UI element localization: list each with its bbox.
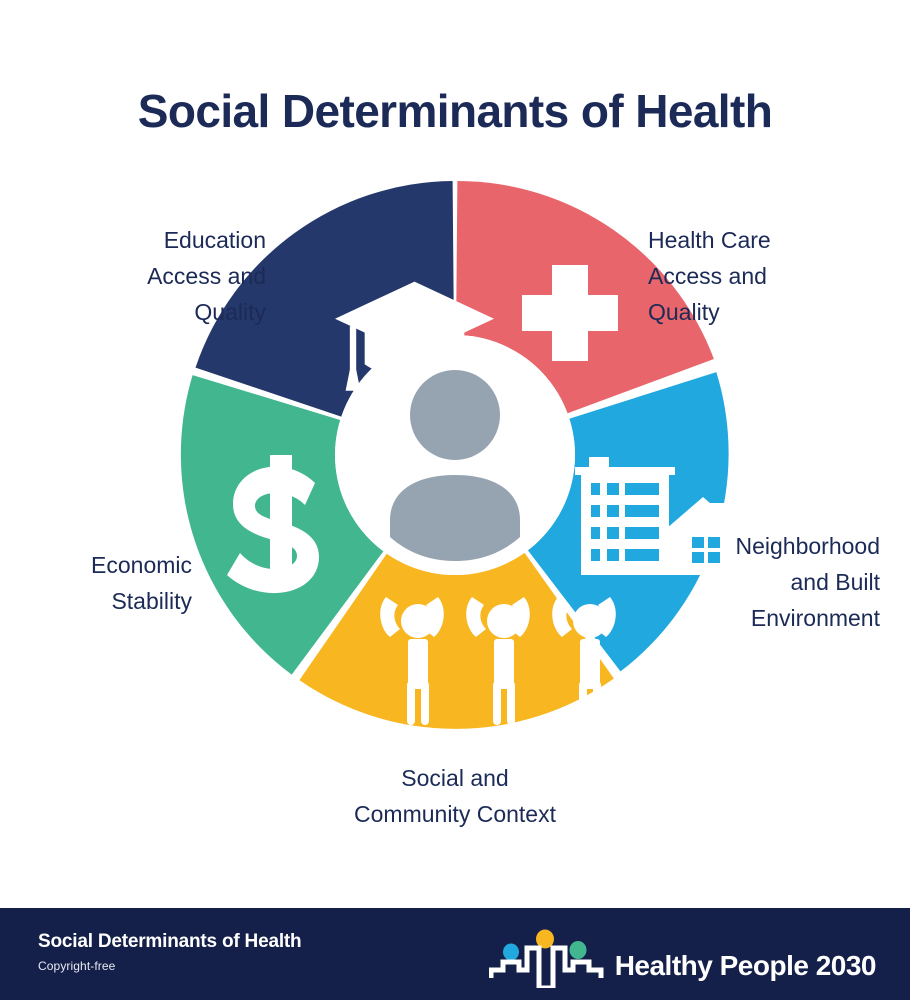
logo-dot-blue — [503, 944, 519, 961]
segment-label-neighborhood: Neighborhood and Built Environment — [676, 528, 880, 636]
page-title: Social Determinants of Health — [0, 84, 910, 138]
brand-wordmark: Healthy People 2030 — [615, 952, 876, 988]
footer-subtitle: Copyright-free — [38, 959, 301, 973]
segment-label-social-community-context: Social and Community Context — [255, 760, 655, 832]
infographic-page: Social Determinants of Health — [0, 0, 910, 1000]
footer-left-group: Social Determinants of Health Copyright-… — [38, 930, 301, 973]
logo-dot-teal — [569, 941, 586, 959]
segment-label-education: Education Access and Quality — [40, 222, 266, 330]
healthy-people-2030-logo[interactable]: Healthy People 2030 — [489, 926, 876, 988]
footer-title: Social Determinants of Health — [38, 930, 301, 954]
footer-bar: Social Determinants of Health Copyright-… — [0, 908, 910, 1000]
healthy-people-mark-icon — [489, 926, 605, 988]
segment-label-economic-stability: Economic Stability — [28, 547, 192, 619]
segment-label-health-care: Health Care Access and Quality — [648, 222, 878, 330]
